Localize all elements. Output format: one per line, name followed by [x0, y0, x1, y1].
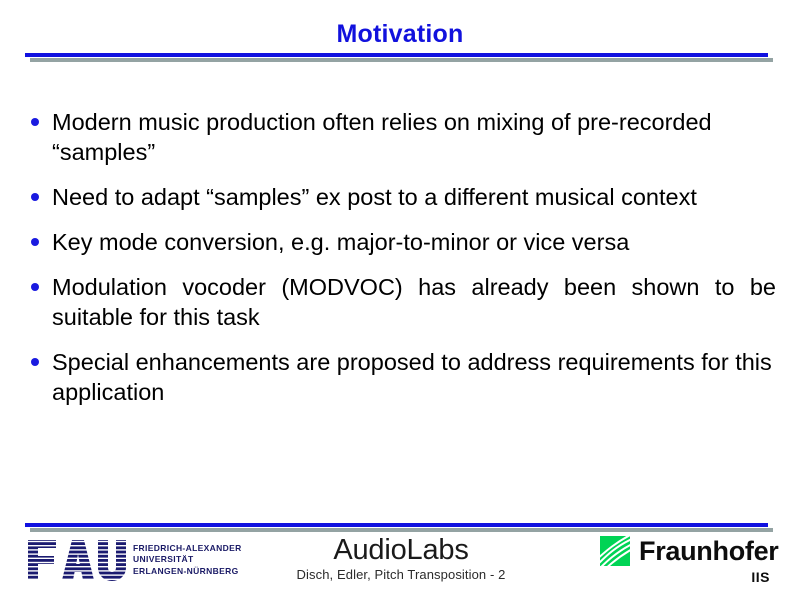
- fraunhofer-wordmark: Fraunhofer: [639, 536, 779, 566]
- fau-line-2: UNIVERSITÄT: [133, 554, 242, 566]
- bullet-list: Modern music production often relies on …: [24, 107, 776, 422]
- bullet-dot-icon: [31, 283, 39, 291]
- fau-logo-icon: [26, 538, 126, 582]
- footer-divider-line: [25, 523, 768, 527]
- slide-footer-caption: Disch, Edler, Pitch Transposition - 2: [246, 567, 556, 583]
- bullet-dot-icon: [31, 193, 39, 201]
- list-item: Special enhancements are proposed to add…: [24, 347, 776, 407]
- fraunhofer-logo-row: Fraunhofer: [600, 536, 780, 566]
- fraunhofer-institute-label: IIS: [600, 569, 780, 585]
- list-item-text: Modern music production often relies on …: [52, 107, 776, 167]
- audiolabs-wordmark: AudioLabs: [246, 534, 556, 567]
- title-divider-line: [25, 53, 768, 57]
- fau-logo-wordmark: FRIEDRICH-ALEXANDER UNIVERSITÄT ERLANGEN…: [133, 543, 242, 578]
- page-title: Motivation: [337, 22, 464, 47]
- title-divider-shadow: [30, 58, 773, 62]
- audiolabs-block: AudioLabs Disch, Edler, Pitch Transposit…: [246, 534, 556, 583]
- list-item: Modern music production often relies on …: [24, 107, 776, 167]
- list-item-text: Key mode conversion, e.g. major-to-minor…: [52, 227, 776, 257]
- fraunhofer-logo-icon: [600, 536, 630, 566]
- list-item-text: Need to adapt “samples” ex post to a dif…: [52, 182, 776, 212]
- slide-title-area: Motivation: [0, 22, 800, 47]
- fau-logo: FRIEDRICH-ALEXANDER UNIVERSITÄT ERLANGEN…: [26, 538, 242, 582]
- list-item: Need to adapt “samples” ex post to a dif…: [24, 182, 776, 212]
- list-item: Key mode conversion, e.g. major-to-minor…: [24, 227, 776, 257]
- bullet-dot-icon: [31, 358, 39, 366]
- bullet-dot-icon: [31, 118, 39, 126]
- list-item: Modulation vocoder (MODVOC) has already …: [24, 272, 776, 332]
- title-divider: [25, 53, 773, 65]
- bullet-dot-icon: [31, 238, 39, 246]
- fau-line-3: ERLANGEN-NÜRNBERG: [133, 566, 242, 578]
- slide-canvas: Motivation Modern music production often…: [0, 0, 800, 600]
- list-item-text: Modulation vocoder (MODVOC) has already …: [52, 272, 776, 332]
- slide-footer: FRIEDRICH-ALEXANDER UNIVERSITÄT ERLANGEN…: [0, 531, 800, 600]
- list-item-text: Special enhancements are proposed to add…: [52, 347, 776, 407]
- fau-line-1: FRIEDRICH-ALEXANDER: [133, 543, 242, 555]
- fraunhofer-logo: Fraunhofer IIS: [600, 536, 780, 585]
